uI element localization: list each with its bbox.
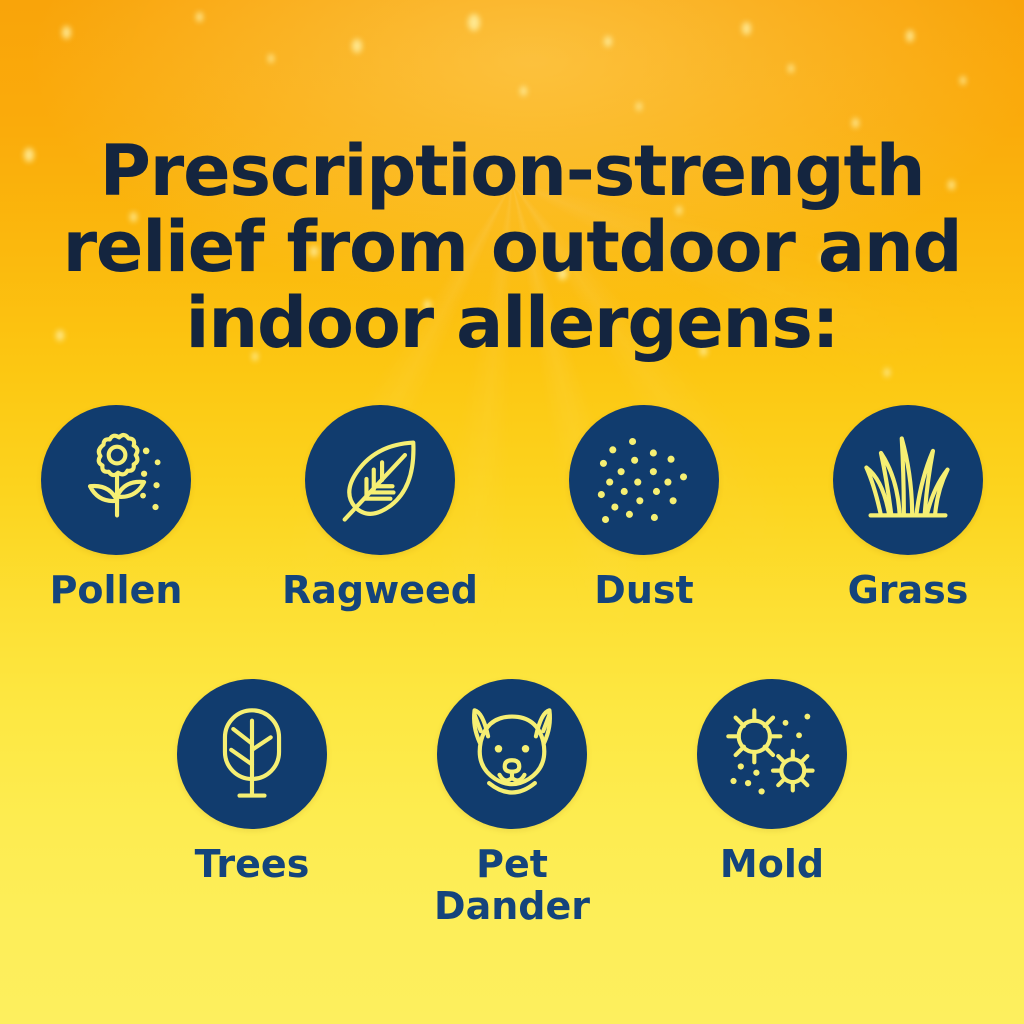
ragweed-badge (305, 405, 455, 555)
allergen-label: Pet Dander (434, 843, 590, 927)
dust-badge (569, 405, 719, 555)
allergen-item-dust[interactable]: Dust (569, 405, 719, 611)
allergen-row-1: Pollen Ragweed (0, 405, 1024, 611)
page-headline: Prescription-strength relief from outdoo… (0, 133, 1024, 361)
pet-face-icon (460, 702, 564, 806)
allergen-item-mold[interactable]: Mold (697, 679, 847, 927)
allergen-item-grass[interactable]: Grass (833, 405, 983, 611)
allergen-grid: Pollen Ragweed (0, 405, 1024, 927)
flower-pollen-icon (64, 428, 168, 532)
allergen-label: Dust (594, 569, 693, 611)
allergen-label: Ragweed (282, 569, 478, 611)
allergen-label: Trees (195, 843, 310, 885)
pollen-badge (41, 405, 191, 555)
allergen-item-trees[interactable]: Trees (177, 679, 327, 927)
grass-blades-icon (856, 428, 960, 532)
allergen-label: Grass (848, 569, 969, 611)
tree-icon (200, 702, 304, 806)
mold-spores-icon (720, 702, 824, 806)
allergen-poster: Prescription-strength relief from outdoo… (0, 0, 1024, 1024)
leaf-icon (328, 428, 432, 532)
allergen-row-2: Trees (0, 679, 1024, 927)
allergen-item-pollen[interactable]: Pollen (41, 405, 191, 611)
allergen-item-ragweed[interactable]: Ragweed (305, 405, 455, 611)
allergen-item-pet-dander[interactable]: Pet Dander (437, 679, 587, 927)
dust-particles-icon (592, 428, 696, 532)
trees-badge (177, 679, 327, 829)
grass-badge (833, 405, 983, 555)
allergen-label: Mold (720, 843, 824, 885)
pet-dander-badge (437, 679, 587, 829)
allergen-label: Pollen (50, 569, 183, 611)
mold-badge (697, 679, 847, 829)
